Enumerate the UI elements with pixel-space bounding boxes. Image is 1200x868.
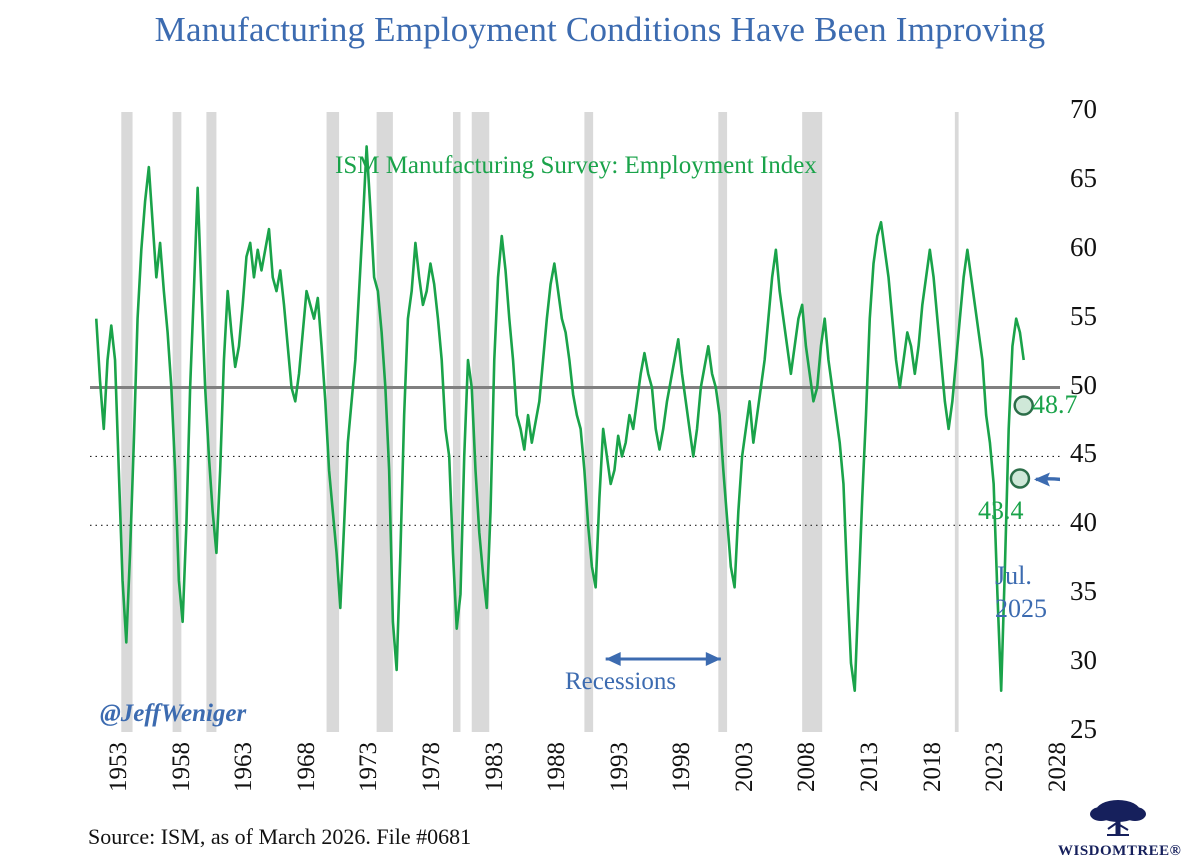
data-point-marker <box>1011 469 1029 487</box>
page-title: Manufacturing Employment Conditions Have… <box>0 10 1200 50</box>
recession-band <box>377 112 393 732</box>
date-callout-line1: Jul. <box>995 560 1047 593</box>
x-tick-label: 2028 <box>1044 742 1072 792</box>
chart-root: Manufacturing Employment Conditions Have… <box>0 0 1200 868</box>
y-axis-labels: 25303540455055606570 <box>1070 100 1130 750</box>
y-tick-label: 35 <box>1070 578 1097 605</box>
series-line <box>96 146 1023 690</box>
tree-icon <box>1083 796 1153 838</box>
x-tick-label: 1973 <box>355 742 383 792</box>
x-tick-label: 2003 <box>731 742 759 792</box>
recession-band <box>955 112 959 732</box>
x-tick-label: 1968 <box>293 742 321 792</box>
x-tick-label: 2013 <box>856 742 884 792</box>
x-tick-label: 1953 <box>105 742 133 792</box>
x-tick-label: 1963 <box>230 742 258 792</box>
plot-area <box>90 112 1060 732</box>
recession-band <box>584 112 593 732</box>
x-tick-label: 2018 <box>919 742 947 792</box>
y-tick-label: 70 <box>1070 96 1097 123</box>
x-tick-label: 2023 <box>981 742 1009 792</box>
latest-value-callout: 48.7 <box>1032 390 1078 420</box>
date-callout: Jul. 2025 <box>995 560 1047 625</box>
date-callout-line2: 2025 <box>995 593 1047 626</box>
recession-arrow-head-left <box>606 652 621 666</box>
y-tick-label: 25 <box>1070 716 1097 743</box>
author-handle: @JeffWeniger <box>100 700 246 728</box>
y-tick-label: 55 <box>1070 303 1097 330</box>
y-tick-label: 60 <box>1070 234 1097 261</box>
source-note: Source: ISM, as of March 2026. File #068… <box>88 824 471 850</box>
wisdomtree-logo: WISDOMTREE® <box>1058 796 1178 860</box>
y-tick-label: 40 <box>1070 509 1097 536</box>
recessions-label: Recessions <box>565 668 676 696</box>
recession-band <box>453 112 461 732</box>
y-tick-label: 65 <box>1070 165 1097 192</box>
x-tick-label: 1978 <box>418 742 446 792</box>
recession-band <box>327 112 340 732</box>
x-tick-label: 1998 <box>668 742 696 792</box>
data-point-marker <box>1015 396 1033 414</box>
y-tick-label: 30 <box>1070 647 1097 674</box>
x-tick-label: 1958 <box>168 742 196 792</box>
x-tick-label: 1993 <box>606 742 634 792</box>
y-tick-label: 45 <box>1070 440 1097 467</box>
x-tick-label: 2008 <box>793 742 821 792</box>
chart-svg <box>90 112 1060 732</box>
series-label: ISM Manufacturing Survey: Employment Ind… <box>335 152 817 180</box>
low-value-callout: 43.4 <box>978 496 1024 526</box>
recession-band <box>802 112 822 732</box>
x-tick-label: 1988 <box>543 742 571 792</box>
logo-text: WISDOMTREE® <box>1058 843 1178 860</box>
x-tick-label: 1983 <box>481 742 509 792</box>
